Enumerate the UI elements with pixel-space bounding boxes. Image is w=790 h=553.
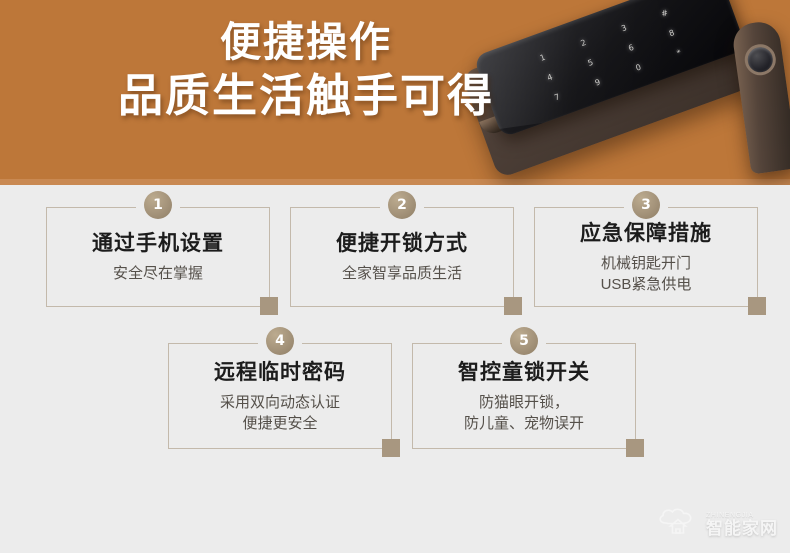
- lock-handle: [731, 19, 790, 174]
- feature-card-5: 5 智控童锁开关 防猫眼开锁， 防儿童、宠物误开: [412, 343, 636, 449]
- feature-cards-section: 1 通过手机设置 安全尽在掌握 2 便捷开锁方式 全家智享品质生活 3 应急保障…: [0, 185, 790, 553]
- feature-card-4: 4 远程临时密码 采用双向动态认证 便捷更安全: [168, 343, 392, 449]
- headline-line-1: 便捷操作: [0, 16, 612, 68]
- feature-subtitle-line: 全家智享品质生活: [342, 263, 462, 284]
- feature-subtitle-line: USB紧急供电: [601, 274, 692, 295]
- feature-number-badge: 5: [510, 327, 538, 355]
- feature-title: 通过手机设置: [92, 230, 224, 258]
- headline-line-2: 品质生活触手可得: [0, 68, 612, 124]
- feature-subtitle: 安全尽在掌握: [113, 263, 203, 284]
- feature-subtitle-line: 采用双向动态认证: [220, 392, 340, 413]
- corner-accent-square: [504, 297, 522, 315]
- feature-card-content: 应急保障措施 机械钥匙开门 USB紧急供电: [535, 208, 757, 306]
- corner-accent-square: [626, 439, 644, 457]
- banner-headline: 便捷操作 品质生活触手可得: [0, 16, 612, 124]
- feature-number-badge: 1: [144, 191, 172, 219]
- feature-title: 远程临时密码: [214, 359, 346, 387]
- feature-subtitle-line: 防猫眼开锁，: [464, 392, 584, 413]
- feature-title: 便捷开锁方式: [336, 230, 468, 258]
- feature-subtitle-line: 便捷更安全: [220, 413, 340, 434]
- feature-card-content: 便捷开锁方式 全家智享品质生活: [291, 208, 513, 306]
- corner-accent-square: [748, 297, 766, 315]
- feature-subtitle: 机械钥匙开门 USB紧急供电: [601, 253, 692, 295]
- feature-subtitle-line: 安全尽在掌握: [113, 263, 203, 284]
- watermark-text: ZHINENGJIA 智能家网: [706, 512, 778, 537]
- feature-subtitle-line: 防儿童、宠物误开: [464, 413, 584, 434]
- site-watermark: ZHINENGJIA 智能家网: [656, 507, 778, 543]
- feature-card-3: 3 应急保障措施 机械钥匙开门 USB紧急供电: [534, 207, 758, 307]
- feature-number-badge: 3: [632, 191, 660, 219]
- feature-card-content: 通过手机设置 安全尽在掌握: [47, 208, 269, 306]
- feature-title: 应急保障措施: [580, 220, 712, 248]
- feature-card-2: 2 便捷开锁方式 全家智享品质生活: [290, 207, 514, 307]
- feature-subtitle: 防猫眼开锁， 防儿童、宠物误开: [464, 392, 584, 434]
- corner-accent-square: [260, 297, 278, 315]
- hero-banner: 1 2 3 # 4 5 6 8 7 9 0 * 便捷操作 品质生活触手可得: [0, 0, 790, 185]
- corner-accent-square: [382, 439, 400, 457]
- feature-card-content: 智控童锁开关 防猫眼开锁， 防儿童、宠物误开: [413, 344, 635, 448]
- feature-card-1: 1 通过手机设置 安全尽在掌握: [46, 207, 270, 307]
- feature-subtitle-line: 机械钥匙开门: [601, 253, 692, 274]
- feature-number-badge: 2: [388, 191, 416, 219]
- cloud-house-icon: [656, 507, 700, 543]
- feature-subtitle: 采用双向动态认证 便捷更安全: [220, 392, 340, 434]
- feature-title: 智控童锁开关: [458, 359, 590, 387]
- feature-number-badge: 4: [266, 327, 294, 355]
- feature-subtitle: 全家智享品质生活: [342, 263, 462, 284]
- watermark-chinese: 智能家网: [706, 520, 778, 538]
- feature-card-content: 远程临时密码 采用双向动态认证 便捷更安全: [169, 344, 391, 448]
- fingerprint-sensor-icon: [742, 42, 777, 77]
